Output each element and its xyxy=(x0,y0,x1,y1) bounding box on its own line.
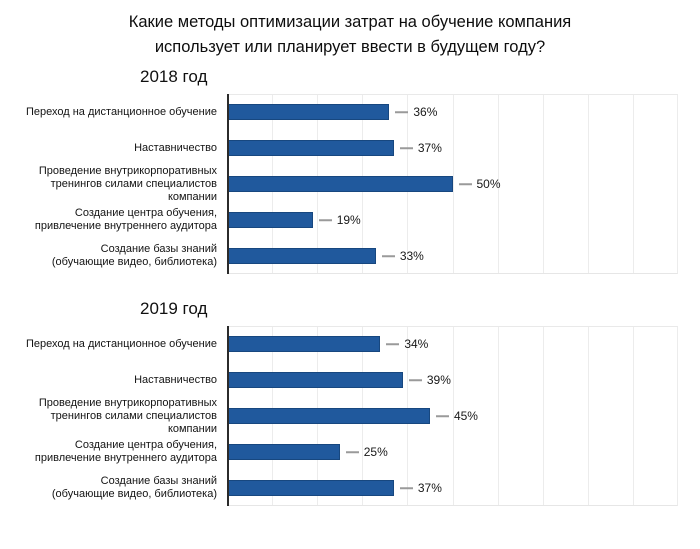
bar-chart: Переход на дистанционное обучение34%Наст… xyxy=(0,326,700,506)
data-label: 34% xyxy=(404,337,428,351)
category-label: Создание центра обучения, привлечение вн… xyxy=(0,439,222,465)
leader-line xyxy=(346,451,359,453)
bar-row: Создание центра обучения, привлечение вн… xyxy=(0,434,700,470)
bar-row: Наставничество39% xyxy=(0,362,700,398)
bar-row: Проведение внутрикорпоративных тренингов… xyxy=(0,166,700,202)
bar-row: Проведение внутрикорпоративных тренингов… xyxy=(0,398,700,434)
bar-zone: 39% xyxy=(227,362,700,398)
bar xyxy=(227,248,376,264)
y-axis-line xyxy=(227,326,229,506)
bar xyxy=(227,480,394,496)
bar-zone: 36% xyxy=(227,94,700,130)
bar-zone: 34% xyxy=(227,326,700,362)
leader-line xyxy=(319,219,332,221)
leader-line xyxy=(395,111,408,113)
charts-container: 2018 годПереход на дистанционное обучени… xyxy=(0,66,700,506)
bar-row: Создание базы знаний (обучающие видео, б… xyxy=(0,470,700,506)
bar-zone: 37% xyxy=(227,470,700,506)
leader-line xyxy=(386,343,399,345)
page-title-line-1: Какие методы оптимизации затрат на обуче… xyxy=(26,10,674,35)
bar-zone: 45% xyxy=(227,398,700,434)
chart-section-1: 2019 годПереход на дистанционное обучени… xyxy=(0,298,700,506)
data-label: 39% xyxy=(427,373,451,387)
bar-zone: 50% xyxy=(227,166,700,202)
data-label: 36% xyxy=(413,105,437,119)
bar xyxy=(227,444,340,460)
bar-chart: Переход на дистанционное обучение36%Наст… xyxy=(0,94,700,274)
data-label: 37% xyxy=(418,481,442,495)
bar xyxy=(227,176,453,192)
leader-line xyxy=(409,379,422,381)
data-label: 37% xyxy=(418,141,442,155)
category-label: Наставничество xyxy=(0,374,222,387)
category-label: Переход на дистанционное обучение xyxy=(0,338,222,351)
bar xyxy=(227,408,430,424)
category-label: Создание базы знаний (обучающие видео, б… xyxy=(0,475,222,501)
bar-zone: 33% xyxy=(227,238,700,274)
bar-zone: 37% xyxy=(227,130,700,166)
bar-row: Создание базы знаний (обучающие видео, б… xyxy=(0,238,700,274)
chart-heading: 2019 год xyxy=(0,298,700,320)
bar-row: Наставничество37% xyxy=(0,130,700,166)
data-label: 19% xyxy=(337,213,361,227)
bar xyxy=(227,140,394,156)
data-label: 25% xyxy=(364,445,388,459)
page-title-line-2: использует или планирует ввести в будуще… xyxy=(26,35,674,60)
bar xyxy=(227,336,380,352)
category-label: Переход на дистанционное обучение xyxy=(0,106,222,119)
y-axis-line xyxy=(227,94,229,274)
bar xyxy=(227,104,389,120)
category-label: Проведение внутрикорпоративных тренингов… xyxy=(0,397,222,436)
bar-row: Переход на дистанционное обучение34% xyxy=(0,326,700,362)
bar-row: Переход на дистанционное обучение36% xyxy=(0,94,700,130)
category-label: Создание базы знаний (обучающие видео, б… xyxy=(0,243,222,269)
bar xyxy=(227,212,313,228)
bar-rows: Переход на дистанционное обучение34%Наст… xyxy=(0,326,700,506)
bar-rows: Переход на дистанционное обучение36%Наст… xyxy=(0,94,700,274)
chart-heading: 2018 год xyxy=(0,66,700,88)
chart-section-0: 2018 годПереход на дистанционное обучени… xyxy=(0,66,700,274)
leader-line xyxy=(400,487,413,489)
bar-row: Создание центра обучения, привлечение вн… xyxy=(0,202,700,238)
leader-line xyxy=(400,147,413,149)
leader-line xyxy=(436,415,449,417)
data-label: 50% xyxy=(477,177,501,191)
leader-line xyxy=(459,183,472,185)
category-label: Создание центра обучения, привлечение вн… xyxy=(0,207,222,233)
data-label: 33% xyxy=(400,249,424,263)
bar-zone: 25% xyxy=(227,434,700,470)
leader-line xyxy=(382,255,395,257)
page-title: Какие методы оптимизации затрат на обуче… xyxy=(0,0,700,60)
bar xyxy=(227,372,403,388)
bar-zone: 19% xyxy=(227,202,700,238)
data-label: 45% xyxy=(454,409,478,423)
category-label: Проведение внутрикорпоративных тренингов… xyxy=(0,165,222,204)
category-label: Наставничество xyxy=(0,142,222,155)
